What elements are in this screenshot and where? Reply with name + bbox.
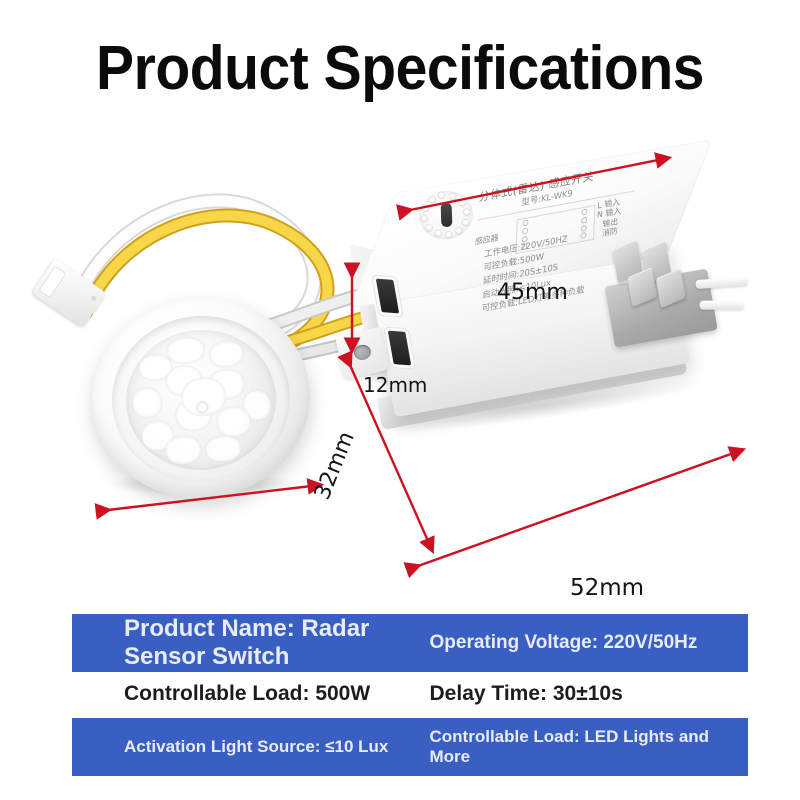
page-title: Product Specifications (32, 36, 768, 101)
sensor-control-box: 分体式(雷达) 感应开关 型号:KL-WK9 感应器 L 输入 N 输入 输出 … (355, 155, 775, 485)
terminal-row-3: 消防 (602, 226, 618, 239)
spec-cell-product-name: Product Name: Radar Sensor Switch (72, 614, 424, 672)
spec-cell-load-types: Controllable Load: LED Lights and More (424, 718, 748, 776)
product-photo: 分体式(雷达) 感应开关 型号:KL-WK9 感应器 L 输入 N 输入 输出 … (0, 120, 800, 590)
product-specification-page: Product Specifications (0, 0, 800, 800)
dimension-label-52mm: 52mm (570, 575, 644, 601)
adjustment-dial[interactable] (415, 187, 477, 244)
pir-sensor-head (92, 290, 322, 495)
table-row: Controllable Load: 500W Delay Time: 30±1… (72, 673, 748, 715)
terminal-block (592, 227, 731, 364)
spec-cell-operating-voltage: Operating Voltage: 220V/50Hz (424, 614, 748, 672)
terminal-output-wire-2 (700, 301, 744, 310)
dimension-label-12mm: 12mm (363, 373, 427, 397)
spec-cell-delay-time: Delay Time: 30±10s (424, 673, 748, 715)
spec-cell-activation-light: Activation Light Source: ≤10 Lux (72, 718, 424, 776)
dimension-label-45mm: 45mm (497, 280, 568, 305)
dial-slot (441, 203, 453, 227)
table-row: Activation Light Source: ≤10 Lux Control… (72, 718, 748, 776)
table-row: Product Name: Radar Sensor Switch Operat… (72, 614, 748, 672)
mounting-screw-hole (353, 343, 373, 361)
spec-cell-controllable-load: Controllable Load: 500W (72, 673, 424, 715)
mounting-tab (335, 327, 389, 380)
specification-table: Product Name: Radar Sensor Switch Operat… (72, 614, 748, 776)
